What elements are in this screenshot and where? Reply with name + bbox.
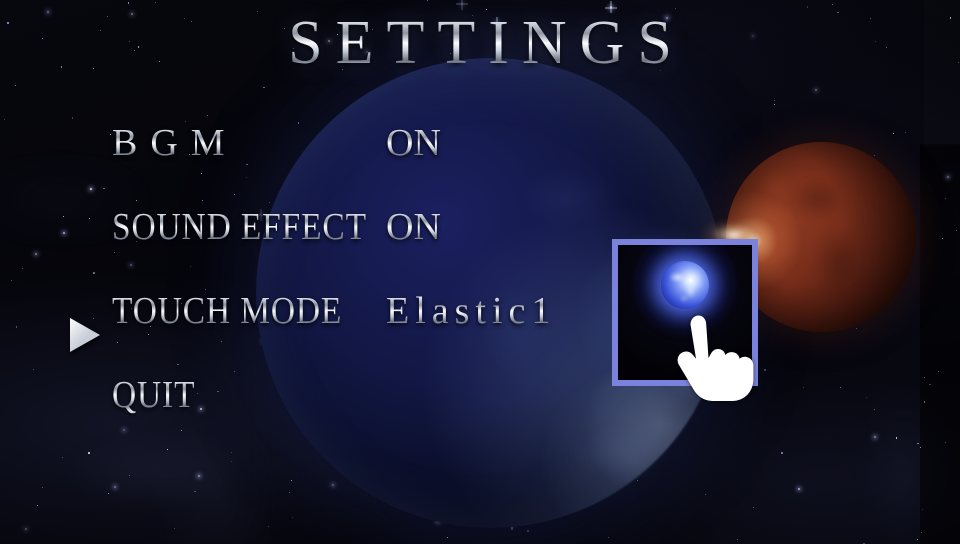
star	[893, 133, 894, 134]
star	[803, 387, 804, 388]
star	[461, 3, 464, 6]
star	[774, 104, 776, 106]
star	[866, 397, 867, 398]
touch-mode-preview-panel	[612, 239, 758, 386]
star	[774, 100, 775, 101]
settings-screen: SETTINGS BGM ON SOUND EFFECT ON TOUCH MO…	[0, 0, 960, 544]
star	[427, 0, 428, 1]
star	[263, 87, 265, 89]
star	[268, 526, 269, 527]
selection-triangle-icon	[70, 318, 100, 352]
star	[737, 539, 738, 540]
star	[896, 437, 898, 439]
star	[128, 2, 130, 4]
star	[920, 447, 921, 448]
menu-row-quit[interactable]: QUIT	[0, 376, 620, 460]
menu-label-sound-effect: SOUND EFFECT	[112, 208, 367, 246]
star	[832, 4, 833, 5]
star	[289, 492, 290, 493]
star	[608, 537, 609, 538]
menu-row-bgm[interactable]: BGM ON	[0, 124, 620, 208]
star	[945, 442, 946, 443]
star	[705, 494, 706, 495]
star	[921, 532, 922, 533]
star	[856, 328, 857, 329]
star	[292, 517, 293, 518]
star	[155, 2, 157, 4]
star	[924, 377, 925, 378]
menu-label-touch-mode: TOUCH MODE	[112, 292, 342, 330]
star	[840, 387, 841, 388]
star	[874, 436, 876, 438]
page-title: SETTINGS	[0, 12, 960, 74]
menu-value-bgm[interactable]: ON	[386, 124, 441, 162]
star	[917, 443, 919, 445]
star	[947, 176, 949, 178]
star	[72, 117, 74, 119]
star	[764, 369, 766, 371]
star	[798, 488, 800, 490]
star	[447, 537, 449, 539]
star	[194, 491, 196, 493]
star	[945, 198, 946, 199]
star	[874, 155, 875, 156]
menu-label-bgm: BGM	[112, 124, 238, 162]
star	[42, 487, 43, 488]
star	[527, 530, 529, 532]
star	[815, 89, 817, 91]
star	[4, 119, 5, 120]
star	[207, 115, 208, 116]
menu-value-touch-mode[interactable]: Elastic1	[386, 292, 556, 330]
star	[781, 452, 783, 454]
star	[332, 484, 334, 486]
star	[15, 85, 16, 86]
star	[291, 480, 292, 481]
star	[922, 509, 923, 510]
pointing-hand-icon	[670, 295, 762, 403]
star	[231, 461, 232, 462]
star	[807, 6, 809, 8]
menu-row-touch-mode[interactable]: TOUCH MODE Elastic1	[0, 292, 620, 376]
star	[956, 230, 957, 231]
menu-row-sound-effect[interactable]: SOUND EFFECT ON	[0, 208, 620, 292]
star	[924, 401, 926, 403]
star	[108, 493, 109, 494]
star	[198, 475, 200, 477]
star	[114, 486, 116, 488]
star	[874, 409, 875, 410]
star	[637, 480, 638, 481]
menu-label-quit: QUIT	[112, 376, 195, 414]
star	[917, 539, 919, 541]
settings-menu: BGM ON SOUND EFFECT ON TOUCH MODE Elasti…	[0, 124, 620, 460]
menu-value-sound-effect[interactable]: ON	[386, 208, 441, 246]
star	[929, 384, 931, 386]
star	[942, 238, 943, 239]
star	[905, 132, 906, 133]
star	[37, 505, 38, 506]
star	[174, 528, 175, 529]
star	[129, 475, 130, 476]
star	[25, 528, 27, 530]
star	[938, 371, 939, 372]
star	[753, 507, 754, 508]
